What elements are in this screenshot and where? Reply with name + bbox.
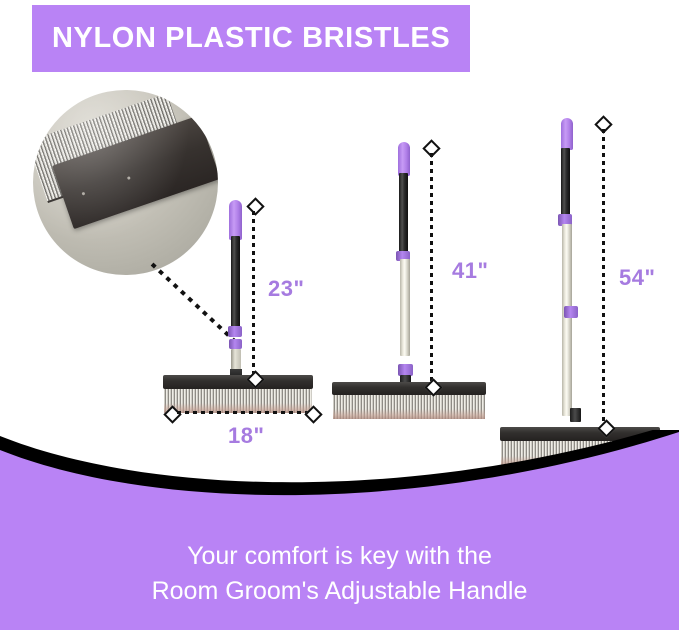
product-infographic: NYLON PLASTIC BRISTLES 23" 18"	[0, 0, 679, 630]
dim-41-line	[430, 153, 433, 385]
bristle-closeup-inset	[33, 90, 218, 275]
dim-54-line	[602, 129, 605, 424]
broom2-head-bristles	[333, 395, 485, 419]
header-banner: NYLON PLASTIC BRISTLES	[32, 5, 470, 72]
broom3-lock-collar-lower	[564, 306, 578, 318]
broom2-black-shaft	[399, 173, 408, 253]
broom3-head-ferrule	[570, 408, 581, 422]
dim-23-marker-top	[246, 197, 264, 215]
dim-18-line	[177, 411, 308, 414]
broom2-head-bar	[332, 382, 486, 395]
dim-54-label: 54"	[619, 265, 655, 291]
dim-23-line	[252, 211, 255, 377]
dim-41-label: 41"	[452, 258, 488, 284]
broom1-head-bar	[163, 375, 313, 389]
banner-title: NYLON PLASTIC BRISTLES	[52, 24, 450, 53]
broom1-chrome-ferrule	[231, 349, 241, 371]
broom1-purple-grip	[229, 200, 242, 240]
broom3-purple-grip	[561, 118, 573, 150]
footer-tagline-line2: Room Groom's Adjustable Handle	[0, 573, 679, 609]
broom2-extension-pole	[400, 259, 410, 356]
broom1-head-bristles	[164, 389, 312, 413]
broom1-lock-collar-upper	[228, 326, 242, 337]
broom1-lock-collar-lower	[229, 339, 242, 349]
footer-tagline-line1: Your comfort is key with the	[0, 538, 679, 574]
broom3-black-shaft	[561, 148, 570, 217]
broom2-purple-grip	[398, 142, 410, 176]
broom1-black-shaft	[231, 236, 240, 334]
dim-23-label: 23"	[268, 276, 304, 302]
broom3-extension-pole	[562, 224, 572, 416]
